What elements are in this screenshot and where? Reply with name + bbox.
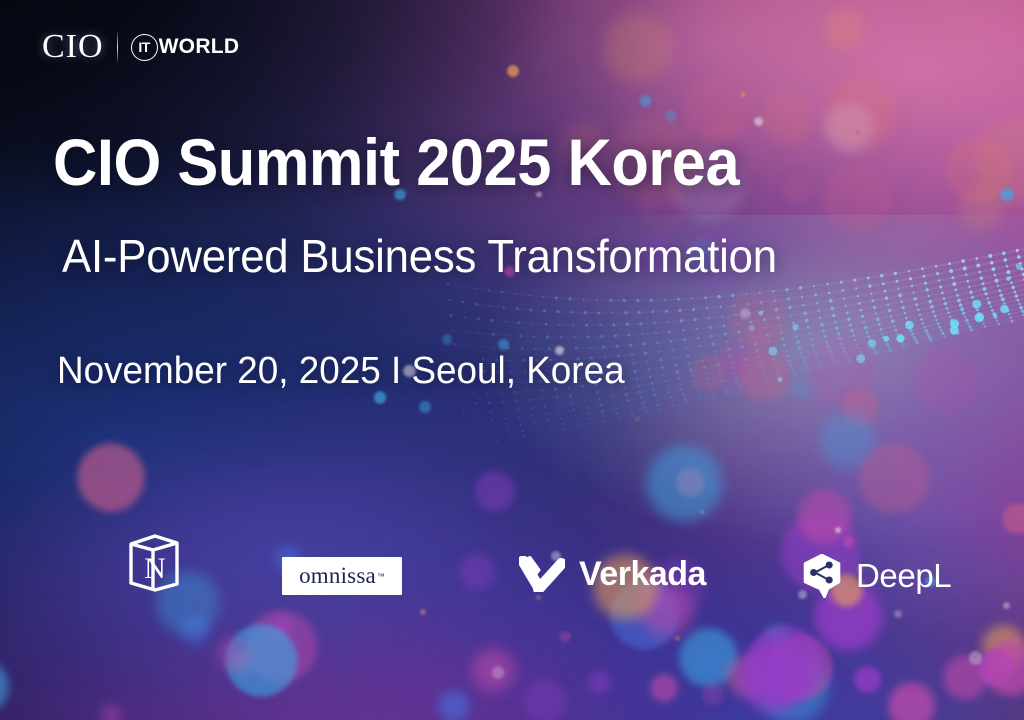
notion-cube-icon: N (125, 531, 183, 593)
verkada-checkmark-icon (519, 556, 565, 592)
svg-text:N: N (144, 552, 166, 585)
deepl-bubble-icon (801, 554, 843, 598)
event-subtitle: AI-Powered Business Transformation (62, 233, 777, 279)
brand-divider (117, 32, 118, 62)
sponsor-logo-row: N omnissa™ Verkada (0, 525, 1024, 605)
verkada-wordmark: Verkada (579, 555, 706, 594)
event-banner: CIO IT WORLD CIO Summit 2025 Korea AI-Po… (0, 0, 1024, 720)
omnissa-wordmark: omnissa (299, 563, 376, 589)
page-title: CIO Summit 2025 Korea (53, 129, 739, 195)
brand-world-text: WORLD (159, 35, 240, 59)
brand-cio-wordmark: CIO (42, 30, 104, 64)
sponsor-logo-notion[interactable]: N (125, 527, 183, 597)
deepl-wordmark: DeepL (856, 557, 951, 595)
sponsor-logo-deepl[interactable]: DeepL (801, 541, 951, 611)
sponsor-logo-omnissa[interactable]: omnissa™ (282, 541, 402, 611)
it-circle-icon: IT (131, 34, 158, 61)
event-date-location: November 20, 2025 I Seoul, Korea (57, 352, 625, 390)
brand-itworld-wordmark: IT WORLD (131, 34, 240, 61)
sponsor-logo-verkada[interactable]: Verkada (519, 539, 706, 609)
omnissa-trademark-icon: ™ (377, 572, 385, 581)
brand-logo[interactable]: CIO IT WORLD (42, 28, 239, 66)
omnissa-white-plate: omnissa™ (282, 557, 402, 595)
